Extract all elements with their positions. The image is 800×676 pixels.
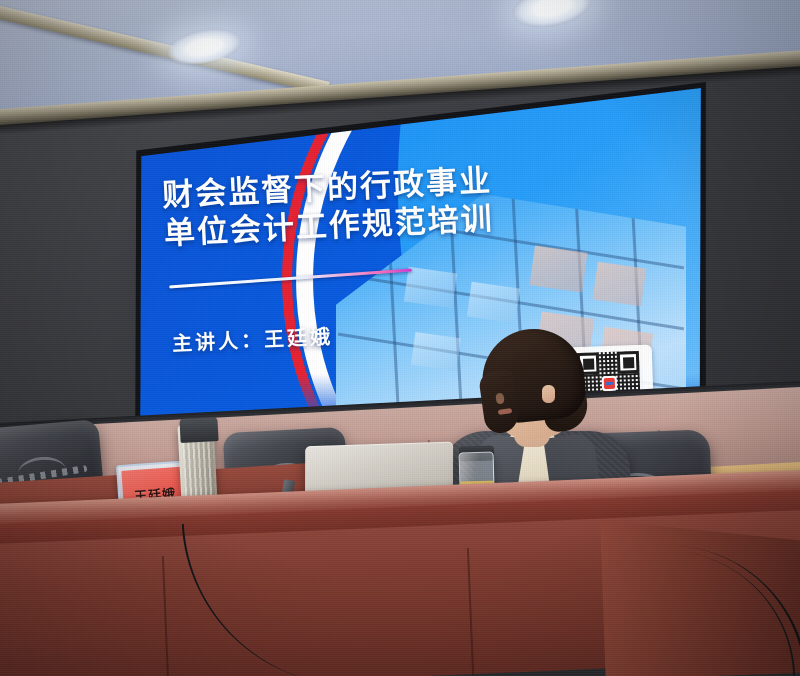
presenter-nose bbox=[495, 392, 504, 404]
thermos-lid[interactable] bbox=[179, 417, 218, 443]
conference-room-photo: 官方微信公众号 财会监督下的行政事业 单位会计工作规范培训 主讲人：王廷娥 bbox=[0, 0, 800, 676]
presenter-ear bbox=[542, 385, 555, 403]
